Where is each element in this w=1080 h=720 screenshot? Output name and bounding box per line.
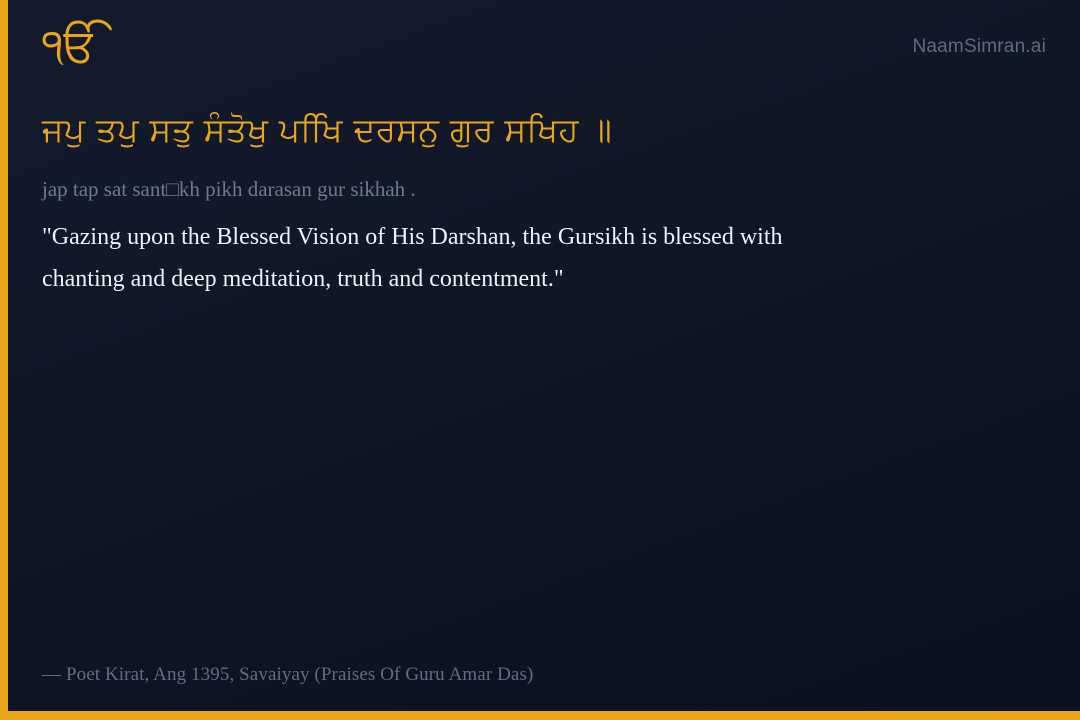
scripture-quote-card: ੴ NaamSimran.ai ਜਪੁ ਤਪੁ ਸਤੁ ਸੰਤੋਖੁ ਪਖਿਿ … [0,0,1080,720]
brand-watermark: NaamSimran.ai [912,36,1046,58]
card-header: ੴ NaamSimran.ai [36,26,1046,88]
transliteration-line: jap tap sat sant□kh pikh darasan gur sik… [42,175,902,203]
ik-onkar-icon: ੴ [42,22,98,68]
source-attribution: — Poet Kirat, Ang 1395, Savaiyay (Praise… [42,664,533,686]
english-translation: "Gazing upon the Blessed Vision of His D… [42,217,832,300]
gurmukhi-scripture-line: ਜਪੁ ਤਪੁ ਸਤੁ ਸੰਤੋਖੁ ਪਖਿਿ ਦਰਸਨੁ ਗੁਰ ਸਖਿਹ ॥ [42,104,742,155]
quote-body: ਜਪੁ ਤਪੁ ਸਤੁ ਸੰਤੋਖੁ ਪਖਿਿ ਦਰਸਨੁ ਗੁਰ ਸਖਿਹ ॥… [36,88,1046,300]
